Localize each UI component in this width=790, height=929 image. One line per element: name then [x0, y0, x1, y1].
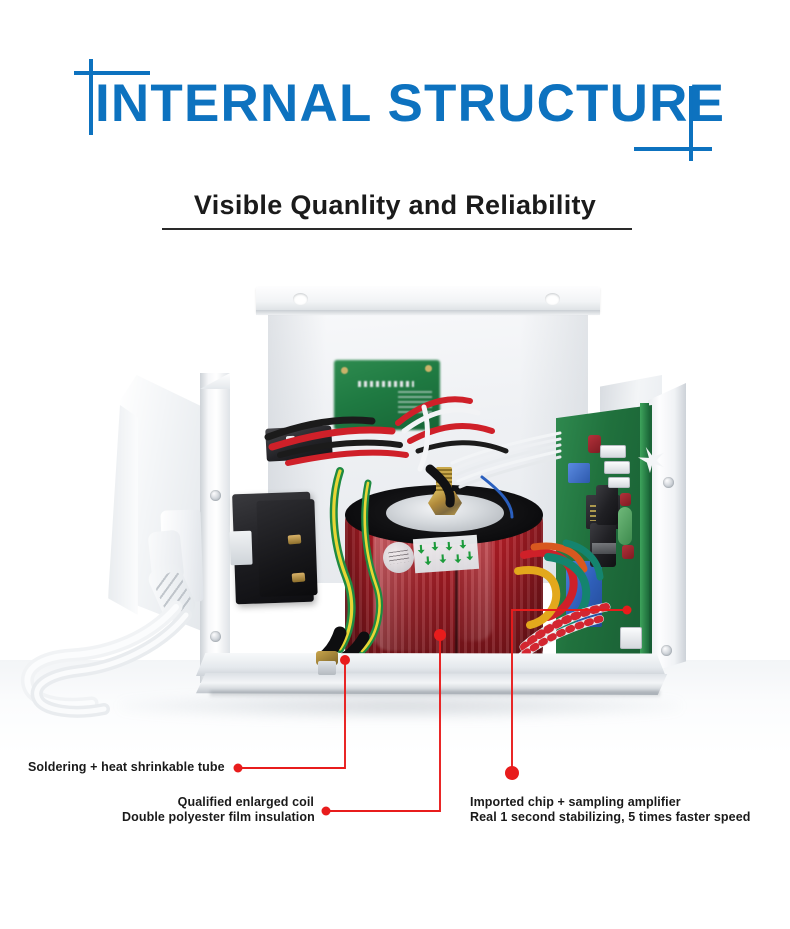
- callout-text-soldering: Soldering + heat shrinkable tube: [28, 760, 225, 775]
- leader-line-coil: [326, 635, 440, 811]
- callout-marker-chip-label: [505, 766, 519, 780]
- callout-chip-line2: Real 1 second stabilizing, 5 times faste…: [470, 810, 751, 825]
- callout-coil-line2: Double polyester film insulation: [122, 810, 314, 825]
- leader-line-chip: [512, 610, 627, 770]
- callout-marker-soldering-anchor: [340, 655, 350, 665]
- callout-chip-line1: Imported chip + sampling amplifier: [470, 795, 751, 810]
- callout-leader-lines: [0, 0, 790, 929]
- callout-text-coil: Qualified enlarged coil Double polyester…: [122, 795, 314, 825]
- callout-marker-chip-anchor: [623, 606, 632, 615]
- callout-marker-coil-label: [322, 807, 331, 816]
- callout-marker-soldering-label: [234, 764, 243, 773]
- callout-soldering-line1: Soldering + heat shrinkable tube: [28, 760, 225, 775]
- callout-text-chip: Imported chip + sampling amplifier Real …: [470, 795, 751, 825]
- callout-marker-coil-anchor: [434, 629, 446, 641]
- leader-line-soldering: [238, 660, 345, 768]
- page-root: INTERNAL STRUCTURE Visible Quanlity and …: [0, 0, 790, 929]
- callout-layer: Soldering + heat shrinkable tube Qualifi…: [0, 0, 790, 929]
- callout-coil-line1: Qualified enlarged coil: [122, 795, 314, 810]
